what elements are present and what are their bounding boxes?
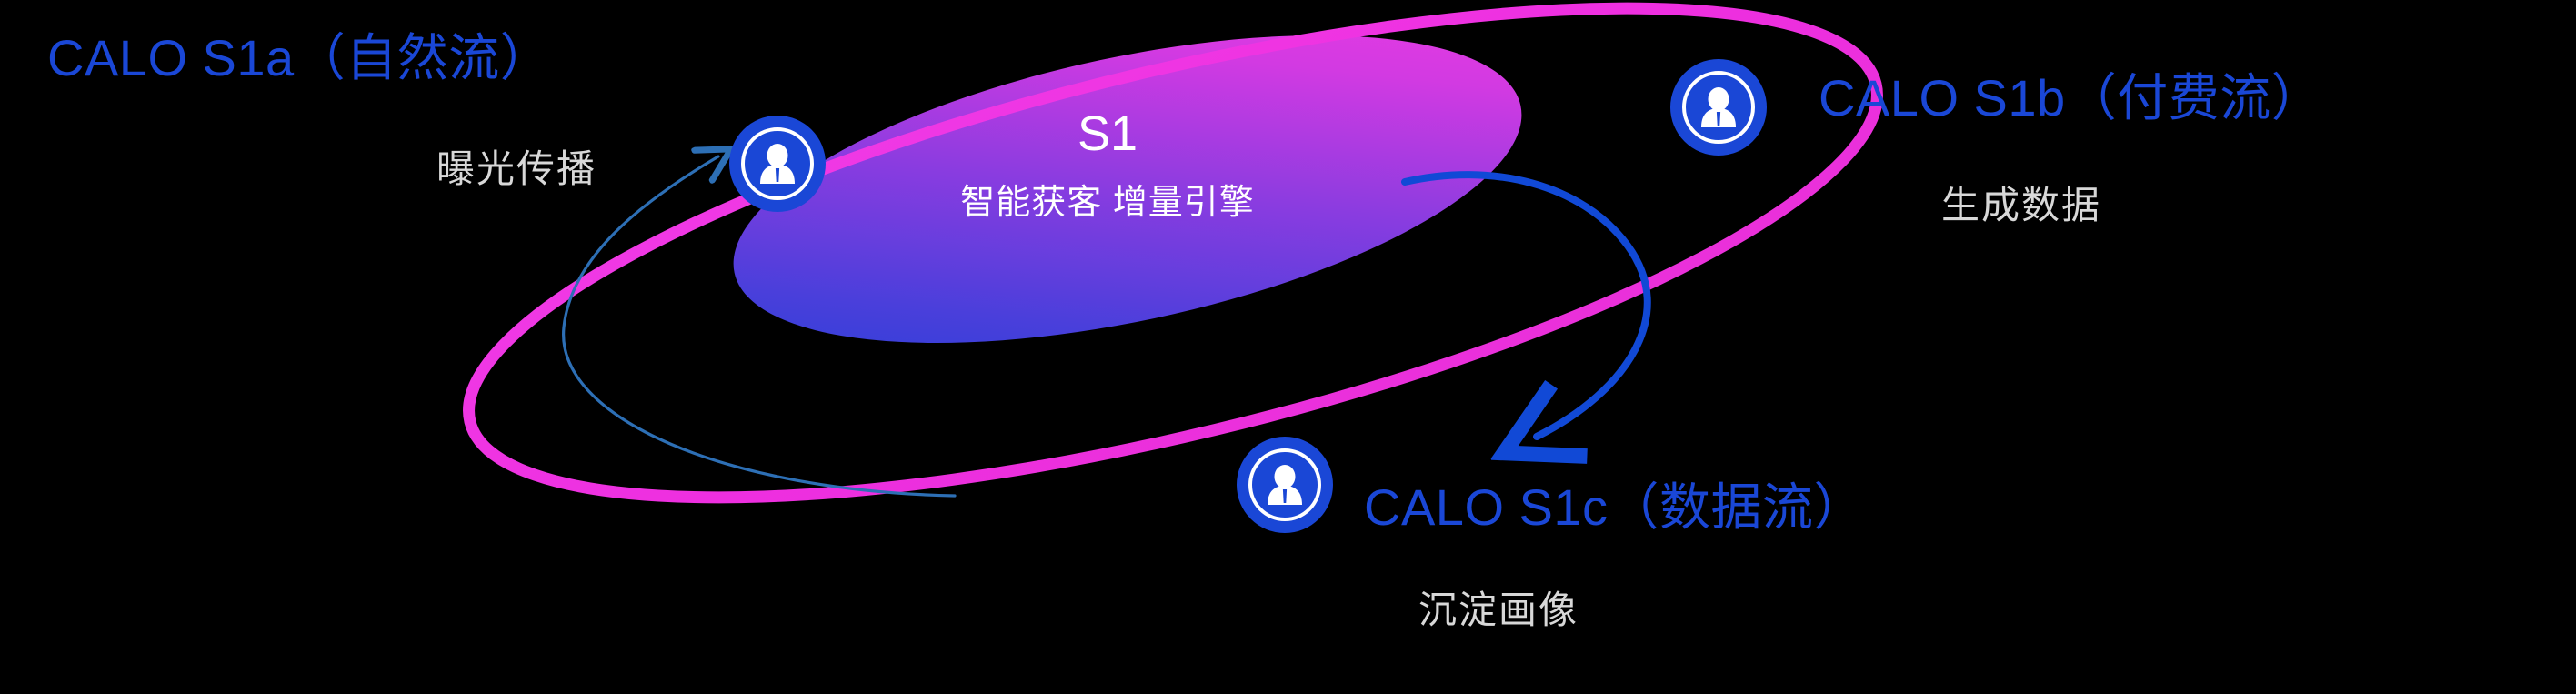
node-caption-s1a: 曝光传播 (436, 150, 596, 188)
core-title: S1 (1078, 106, 1138, 161)
diagram-canvas: S1 智能获客 增量引擎 (0, 0, 2576, 694)
core-subtitle: 智能获客 增量引擎 (960, 184, 1255, 222)
node-title-s1c: CALO S1c（数据流） (1364, 482, 1865, 533)
node-title-s1b: CALO S1b（付费流） (1819, 73, 2322, 124)
node-title-s1a: CALO S1a（自然流） (47, 33, 551, 84)
node-caption-s1c: 沉淀画像 (1418, 591, 1579, 629)
node-caption-s1b: 生成数据 (1941, 186, 2101, 225)
node-icon-s1b[interactable] (1670, 59, 1767, 156)
node-icon-s1a[interactable] (729, 116, 826, 212)
node-icon-s1c[interactable] (1237, 437, 1333, 533)
